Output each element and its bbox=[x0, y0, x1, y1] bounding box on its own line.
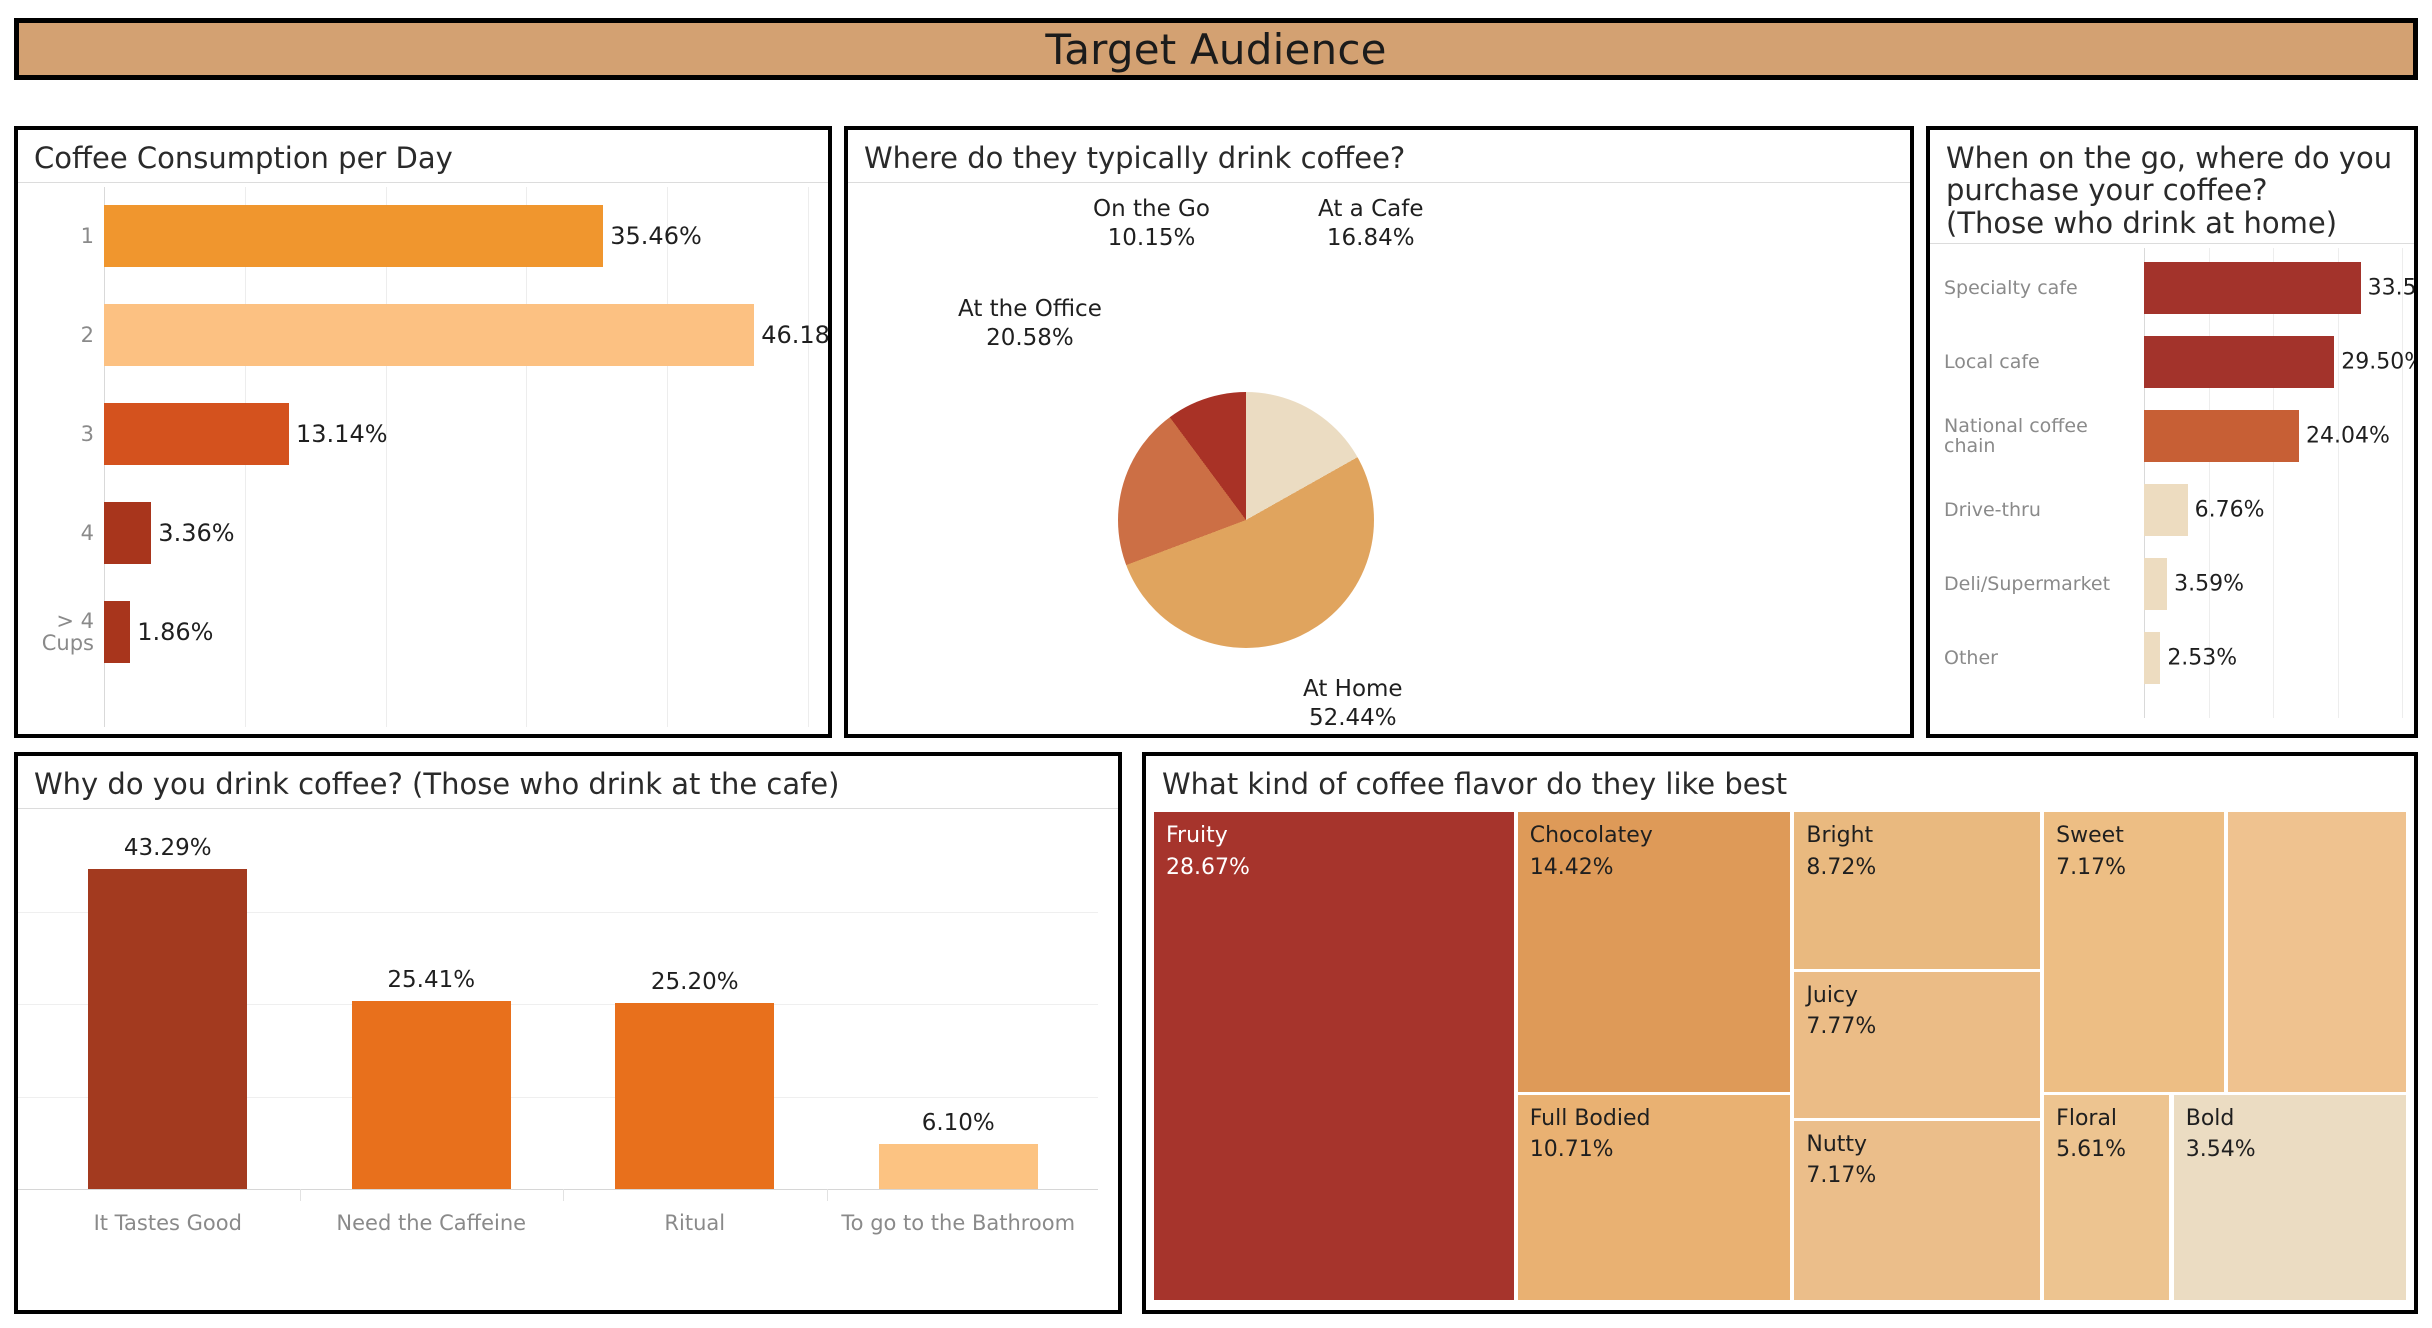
chart-axis-line bbox=[18, 1189, 1098, 1190]
treemap-tile-label: Sweet7.17% bbox=[2056, 820, 2126, 882]
pie-slice-name: At the Office bbox=[958, 295, 1102, 323]
bar-track: 3.36% bbox=[104, 502, 151, 564]
treemap-tile-name: Fruity bbox=[1166, 820, 1250, 851]
column-bar[interactable] bbox=[879, 1144, 1038, 1189]
panel-where-purchase-coffee: When on the go, where do you purchase yo… bbox=[1926, 126, 2418, 738]
pie-slice-label: At Home52.44% bbox=[1303, 675, 1403, 731]
pie-slice-value: 10.15% bbox=[1093, 224, 1210, 252]
bar-row[interactable]: 246.18% bbox=[18, 304, 828, 366]
bar-track: 1.86% bbox=[104, 601, 130, 663]
panel-divider bbox=[1930, 243, 2414, 244]
treemap-tile-value: 8.72% bbox=[1806, 852, 1876, 883]
bar-value-label: 24.04% bbox=[2306, 424, 2390, 449]
panel-divider bbox=[18, 182, 828, 183]
page-title: Target Audience bbox=[1045, 25, 1386, 74]
treemap-tile-label: Chocolatey14.42% bbox=[1530, 820, 1653, 882]
bar-fill[interactable] bbox=[2144, 262, 2361, 314]
treemap-tile-value: 3.54% bbox=[2186, 1134, 2256, 1165]
axis-tick bbox=[827, 1189, 828, 1201]
bar-value-label: 29.50% bbox=[2341, 350, 2418, 375]
bar-value-label: 33.58% bbox=[2368, 276, 2418, 301]
panel-where-drink-coffee: Where do they typically drink coffee? At… bbox=[844, 126, 1914, 738]
treemap-tile[interactable]: Full Bodied10.71% bbox=[1518, 1095, 1790, 1301]
bar-category-label: Other bbox=[1930, 648, 2144, 669]
panel-coffee-consumption: Coffee Consumption per Day 135.46%246.18… bbox=[14, 126, 832, 738]
panel-title-where: Where do they typically drink coffee? bbox=[848, 130, 1910, 182]
chart-coffee-flavor-treemap: Fruity28.67%Chocolatey14.42%Full Bodied1… bbox=[1154, 812, 2406, 1300]
treemap-tile-label: Bright8.72% bbox=[1806, 820, 1876, 882]
column-value-label: 6.10% bbox=[879, 1110, 1038, 1136]
panel-title-why: Why do you drink coffee? (Those who drin… bbox=[18, 756, 1118, 808]
pie-slice-value: 20.58% bbox=[958, 324, 1102, 352]
bar-value-label: 2.53% bbox=[2167, 646, 2237, 671]
bar-value-label: 46.18% bbox=[761, 321, 832, 349]
treemap-tile-name: Full Bodied bbox=[1530, 1103, 1651, 1134]
column-category-label: Need the Caffeine bbox=[300, 1211, 564, 1235]
treemap-tile-value: 7.17% bbox=[1806, 1160, 1876, 1191]
treemap-tile[interactable] bbox=[2228, 812, 2406, 1091]
bar-track: 13.14% bbox=[104, 403, 289, 465]
treemap-tile[interactable]: Fruity28.67% bbox=[1154, 812, 1514, 1300]
bar-track: 3.59% bbox=[2144, 558, 2167, 610]
bar-fill[interactable] bbox=[104, 403, 289, 465]
treemap-tile-value: 5.61% bbox=[2056, 1134, 2126, 1165]
panel-title-purchase-line1: When on the go, where do you purchase yo… bbox=[1946, 141, 2392, 207]
treemap-tile-name: Juicy bbox=[1806, 980, 1876, 1011]
bar-row[interactable]: 313.14% bbox=[18, 403, 828, 465]
bar-fill[interactable] bbox=[2144, 336, 2334, 388]
treemap-tile[interactable]: Floral5.61% bbox=[2044, 1095, 2169, 1301]
bar-track: 35.46% bbox=[104, 205, 603, 267]
bar-fill[interactable] bbox=[2144, 410, 2299, 462]
treemap-tile-label: Floral5.61% bbox=[2056, 1103, 2126, 1165]
chart-why-drink-coffee: 43.29%It Tastes Good25.41%Need the Caffe… bbox=[18, 809, 1098, 1279]
chart-where-purchase-coffee: Specialty cafe33.58%Local cafe29.50%Nati… bbox=[1930, 248, 2414, 718]
bar-category-label: Drive-thru bbox=[1930, 500, 2144, 521]
pie-slice-value: 16.84% bbox=[1318, 224, 1423, 252]
pie-slice-label: At a Cafe16.84% bbox=[1318, 195, 1423, 251]
bar-category-label: 1 bbox=[18, 225, 104, 248]
dashboard-title-banner: Target Audience bbox=[14, 18, 2418, 80]
bar-category-label: Specialty cafe bbox=[1930, 278, 2144, 299]
panel-title-consumption: Coffee Consumption per Day bbox=[18, 130, 828, 182]
bar-track: 24.04% bbox=[2144, 410, 2299, 462]
bar-row[interactable]: Local cafe29.50% bbox=[1930, 336, 2414, 388]
bar-value-label: 35.46% bbox=[610, 222, 702, 250]
bar-value-label: 3.36% bbox=[158, 519, 234, 547]
column-value-label: 25.41% bbox=[352, 967, 511, 993]
pie-slice-name: At a Cafe bbox=[1318, 195, 1423, 223]
bar-row[interactable]: Drive-thru6.76% bbox=[1930, 484, 2414, 536]
axis-tick bbox=[563, 1189, 564, 1201]
panel-title-flavor: What kind of coffee flavor do they like … bbox=[1146, 756, 2414, 808]
treemap-tile-label: Juicy7.77% bbox=[1806, 980, 1876, 1042]
bar-category-label: 3 bbox=[18, 423, 104, 446]
bar-row[interactable]: 43.36% bbox=[18, 502, 828, 564]
bar-fill[interactable] bbox=[2144, 558, 2167, 610]
bar-fill[interactable] bbox=[104, 205, 603, 267]
bar-row[interactable]: Other2.53% bbox=[1930, 632, 2414, 684]
column-category-label: Ritual bbox=[563, 1211, 827, 1235]
pie-chart[interactable] bbox=[1118, 392, 1374, 648]
column-bar[interactable] bbox=[352, 1001, 511, 1189]
bar-fill[interactable] bbox=[104, 601, 130, 663]
treemap-tile[interactable]: Bold3.54% bbox=[2174, 1095, 2406, 1301]
treemap-tile[interactable]: Sweet7.17% bbox=[2044, 812, 2224, 1091]
treemap-tile-value: 7.17% bbox=[2056, 852, 2126, 883]
panel-coffee-flavor: What kind of coffee flavor do they like … bbox=[1142, 752, 2418, 1314]
bar-category-label: National coffee chain bbox=[1930, 416, 2144, 457]
pie-slice-label: On the Go10.15% bbox=[1093, 195, 1210, 251]
treemap-tile-label: Bold3.54% bbox=[2186, 1103, 2256, 1165]
chart-where-drink-coffee: At a Cafe16.84%At Home52.44%At the Offic… bbox=[848, 183, 1910, 703]
panel-why-drink-coffee: Why do you drink coffee? (Those who drin… bbox=[14, 752, 1122, 1314]
treemap-tile-name: Floral bbox=[2056, 1103, 2126, 1134]
treemap-tile[interactable]: Bright8.72% bbox=[1794, 812, 2039, 968]
panel-title-purchase-line2: (Those who drink at home) bbox=[1946, 206, 2337, 240]
bar-value-label: 1.86% bbox=[137, 618, 213, 646]
bar-fill[interactable] bbox=[2144, 632, 2160, 684]
treemap-tile-name: Bold bbox=[2186, 1103, 2256, 1134]
treemap-tile-value: 10.71% bbox=[1530, 1134, 1651, 1165]
bar-track: 6.76% bbox=[2144, 484, 2188, 536]
bar-category-label: > 4 Cups bbox=[18, 610, 104, 655]
column-value-label: 25.20% bbox=[615, 969, 774, 995]
bar-track: 46.18% bbox=[104, 304, 754, 366]
bar-value-label: 3.59% bbox=[2174, 572, 2244, 597]
bar-row[interactable]: > 4 Cups1.86% bbox=[18, 601, 828, 663]
pie-slice-value: 52.44% bbox=[1303, 704, 1403, 732]
bar-fill[interactable] bbox=[104, 304, 754, 366]
treemap-tile-value: 7.77% bbox=[1806, 1011, 1876, 1042]
bar-category-label: 2 bbox=[18, 324, 104, 347]
column-category-label: It Tastes Good bbox=[36, 1211, 300, 1235]
bar-category-label: Local cafe bbox=[1930, 352, 2144, 373]
treemap-tile-name: Sweet bbox=[2056, 820, 2126, 851]
bar-fill[interactable] bbox=[104, 502, 151, 564]
pie-slice-label: At the Office20.58% bbox=[958, 295, 1102, 351]
treemap-tile-label: Fruity28.67% bbox=[1166, 820, 1250, 882]
column-category-label: To go to the Bathroom bbox=[827, 1211, 1091, 1235]
bar-fill[interactable] bbox=[2144, 484, 2188, 536]
bar-track: 33.58% bbox=[2144, 262, 2361, 314]
treemap-tile[interactable]: Chocolatey14.42% bbox=[1518, 812, 1790, 1091]
pie-slice-name: At Home bbox=[1303, 675, 1403, 703]
bar-row[interactable]: Specialty cafe33.58% bbox=[1930, 262, 2414, 314]
treemap-tile-name: Nutty bbox=[1806, 1129, 1876, 1160]
bar-value-label: 6.76% bbox=[2195, 498, 2265, 523]
bar-value-label: 13.14% bbox=[296, 420, 388, 448]
column-value-label: 43.29% bbox=[88, 835, 247, 861]
bar-row[interactable]: Deli/Supermarket3.59% bbox=[1930, 558, 2414, 610]
treemap-tile-value: 28.67% bbox=[1166, 852, 1250, 883]
bar-track: 2.53% bbox=[2144, 632, 2160, 684]
bar-category-label: Deli/Supermarket bbox=[1930, 574, 2144, 595]
column-bar[interactable] bbox=[615, 1003, 774, 1189]
bar-row[interactable]: National coffee chain24.04% bbox=[1930, 410, 2414, 462]
pie-slice-name: On the Go bbox=[1093, 195, 1210, 223]
treemap-tile[interactable]: Juicy7.77% bbox=[1794, 972, 2039, 1118]
treemap-tile[interactable]: Nutty7.17% bbox=[1794, 1121, 2039, 1301]
treemap-tile-label: Nutty7.17% bbox=[1806, 1129, 1876, 1191]
bar-row[interactable]: 135.46% bbox=[18, 205, 828, 267]
chart-coffee-consumption: 135.46%246.18%313.14%43.36%> 4 Cups1.86% bbox=[18, 187, 828, 727]
column-bar[interactable] bbox=[88, 869, 247, 1189]
dashboard-root: Target Audience Coffee Consumption per D… bbox=[0, 0, 2432, 1328]
bar-category-label: 4 bbox=[18, 522, 104, 545]
treemap-tile-label: Full Bodied10.71% bbox=[1530, 1103, 1651, 1165]
treemap-tile-name: Bright bbox=[1806, 820, 1876, 851]
bar-track: 29.50% bbox=[2144, 336, 2334, 388]
treemap-tile-name: Chocolatey bbox=[1530, 820, 1653, 851]
treemap-tile-value: 14.42% bbox=[1530, 852, 1653, 883]
axis-tick bbox=[300, 1189, 301, 1201]
panel-title-purchase: When on the go, where do you purchase yo… bbox=[1930, 130, 2414, 243]
